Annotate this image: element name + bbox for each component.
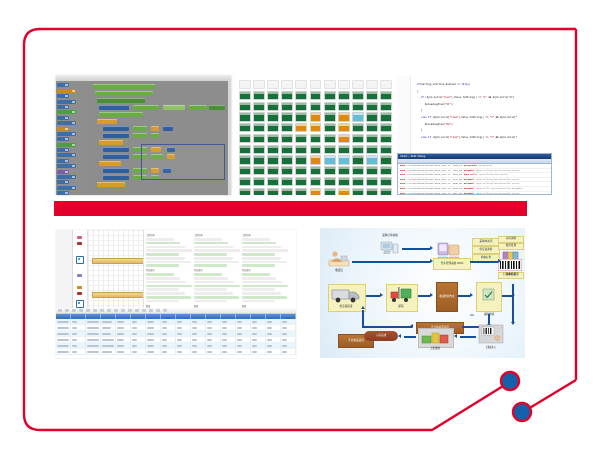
canvas-block-13[interactable] [163,126,173,131]
canvas-block-6[interactable] [189,105,207,110]
location-cell-8-4[interactable] [295,166,307,175]
location-cell-10-1[interactable] [253,188,265,195]
location-cell-10-0[interactable] [239,188,251,195]
code-token: ReloadLogItem( [425,103,445,106]
location-cell-7-2[interactable] [267,155,279,164]
table-tool-button-13[interactable] [149,309,153,312]
palette-block-13[interactable] [57,153,76,157]
table-tool-button-0[interactable] [58,309,62,312]
location-cell-6-6[interactable] [324,145,336,154]
cell-header [282,81,292,83]
location-cell-7-8[interactable] [352,155,364,164]
location-cell-3-5[interactable] [310,112,322,121]
location-cell-1-1[interactable] [253,91,265,100]
table-cell [191,343,206,348]
location-cell-3-8[interactable] [352,112,364,121]
location-cell-8-9[interactable] [366,166,378,175]
gantt-chip-4[interactable] [77,286,82,289]
gantt-detail-line [194,264,227,267]
canvas-block-0[interactable] [93,84,155,89]
cell-body [311,94,321,99]
cell-body [311,137,321,142]
canvas-block-10[interactable] [103,126,129,131]
panel-gantt-scheduler[interactable]: 工程名称工程名称工程名称作业编号作业编号作业编号数量数量数量状态状态状态 [56,230,296,358]
gantt-node-track[interactable] [73,230,88,308]
location-cell-3-4[interactable] [295,112,307,121]
location-cell-5-0[interactable] [239,134,251,143]
location-cell-8-0[interactable] [239,166,251,175]
log-row-6[interactable]: INFOsrc/Warehouse/WcsAPI/Form_Main.cs261… [398,192,551,195]
canvas-block-31[interactable] [103,175,129,180]
panel-blocks-editor[interactable] [56,76,231,195]
location-cell-0-2[interactable] [267,80,279,89]
table-cell [101,319,116,324]
gantt-detail-panel[interactable]: 工程名称工程名称工程名称作业编号作业编号作业编号数量数量数量状态状态状态 [143,230,296,314]
location-cell-6-0[interactable] [239,145,251,154]
location-grid-cells[interactable] [236,76,394,195]
gantt-chip-1[interactable] [77,242,82,245]
log-cell: dgrm.CellsCycleInfoToValue ToStat [476,192,519,195]
panel-location-grid[interactable] [236,76,394,195]
palette-block-9[interactable] [57,132,76,136]
table-cell [56,331,71,336]
gantt-chip-3[interactable] [77,274,82,277]
canvas-block-5[interactable] [163,105,185,110]
location-cell-0-5[interactable] [310,80,322,89]
canvas-block-1[interactable] [95,91,153,96]
location-cell-6-1[interactable] [253,145,265,154]
cell-header [296,189,306,191]
table-cell [146,349,161,354]
location-cell-7-6[interactable] [324,155,336,164]
location-cell-8-7[interactable] [338,166,350,175]
table-tool-button-3[interactable] [79,309,83,312]
cell-header [367,189,377,191]
location-cell-6-2[interactable] [267,145,279,154]
palette-block-7[interactable] [57,121,76,125]
canvas-block-15[interactable] [133,133,147,138]
code-line-1: { [413,89,549,96]
cell-body [296,191,306,195]
table-tool-button-8[interactable] [114,309,118,312]
canvas-block-26[interactable] [99,161,121,166]
gantt-detail-line [194,261,239,264]
cell-header [353,92,363,94]
table-tool-button-7[interactable] [107,309,111,312]
location-cell-4-4[interactable] [295,123,307,132]
code-area[interactable]: if(bartlog_starting.Enabled == false){if… [397,76,552,158]
location-cell-3-9[interactable] [366,112,378,121]
location-cell-5-1[interactable] [253,134,265,143]
location-cell-10-8[interactable] [352,188,364,195]
table-cell [86,319,101,324]
location-cell-5-6[interactable] [324,134,336,143]
output-log-panel[interactable]: Output — Build / Debug INFOsrc/Warehouse… [397,153,552,195]
table-tool-button-12[interactable] [142,309,146,312]
panel-code-editor[interactable]: if(bartlog_starting.Enabled == false){if… [397,76,552,195]
location-cell-7-1[interactable] [253,155,265,164]
code-lines[interactable]: if(bartlog_starting.Enabled == false){if… [413,82,549,141]
cell-body [268,94,278,99]
gantt-detail-line [242,288,275,291]
table-tool-button-6[interactable] [100,309,104,312]
location-cell-2-7[interactable] [338,102,350,111]
location-cell-7-3[interactable] [281,155,293,164]
location-cell-8-6[interactable] [324,166,336,175]
palette-block-2[interactable] [57,94,69,98]
gantt-node-2[interactable] [76,256,84,264]
canvas-block-16[interactable] [151,133,159,138]
location-cell-4-8[interactable] [352,123,364,132]
palette-block-8[interactable] [57,127,69,131]
location-cell-1-10[interactable] [380,91,392,100]
location-cell-8-8[interactable] [352,166,364,175]
gantt-detail-line [194,296,239,299]
location-cell-6-9[interactable] [366,145,378,154]
location-cell-8-3[interactable] [281,166,293,175]
canvas-block-17[interactable] [99,140,123,145]
cell-header [296,178,306,180]
location-cell-8-5[interactable] [310,166,322,175]
location-cell-8-1[interactable] [253,166,265,175]
cell-header [311,167,321,169]
table-cell [251,331,266,336]
location-cell-10-5[interactable] [310,188,322,195]
cell-body [381,115,391,120]
palette-block-14[interactable] [57,159,69,163]
table-cell [206,325,221,330]
location-cell-5-2[interactable] [267,134,279,143]
flow-node-receive-check[interactable]: 收货检验作业 [436,282,458,312]
log-cell: src/Warehouse/WcsAPI/Form_Main.cs [407,192,450,195]
palette-block-11[interactable] [57,143,76,147]
flow-node-wms[interactable]: 仓库管理系统 WMS [433,258,471,270]
log-cell: dgrm.CellsCycleInfoToValue.ToStat [476,169,519,173]
location-cell-7-0[interactable] [239,155,251,164]
location-cell-1-7[interactable] [338,91,350,100]
table-tool-button-1[interactable] [65,309,69,312]
canvas-block-22[interactable] [103,154,129,159]
cell-header [240,156,250,158]
code-token: { [417,90,418,93]
location-cell-6-8[interactable] [352,145,364,154]
cell-header [381,81,391,83]
canvas-block-7[interactable] [209,105,225,110]
gantt-chip-0[interactable] [77,236,82,239]
location-cell-6-4[interactable] [295,145,307,154]
table-tool-button-14[interactable] [156,309,160,312]
location-cell-6-3[interactable] [281,145,293,154]
location-cell-9-6[interactable] [324,177,336,186]
location-cell-1-8[interactable] [352,91,364,100]
code-line-4: } [413,108,549,115]
location-cell-7-9[interactable] [366,155,378,164]
location-cell-6-5[interactable] [310,145,322,154]
palette-block-0[interactable] [57,83,69,87]
table-tool-button-11[interactable] [135,309,139,312]
table-tool-button-2[interactable] [72,309,76,312]
cell-body [268,137,278,142]
table-tool-button-4[interactable] [86,309,90,312]
location-cell-7-7[interactable] [338,155,350,164]
location-cell-0-7[interactable] [338,80,350,89]
gantt-detail-line [146,288,179,291]
location-cell-1-0[interactable] [239,91,251,100]
cell-header [339,92,349,94]
palette-block-20[interactable] [57,191,69,195]
palette-block-12[interactable] [57,148,69,152]
code-token: "item" [443,96,452,99]
location-cell-0-4[interactable] [295,80,307,89]
gantt-detail-line [242,281,282,284]
code-token: ); [451,103,454,106]
flow-label-ng-return: 不合格品退货 [348,340,364,343]
location-cell-9-3[interactable] [281,177,293,186]
flow-label-receive: 收货检验作业 [439,296,455,299]
table-cell [251,319,266,324]
gantt-data-table[interactable] [56,308,296,358]
location-cell-4-5[interactable] [310,123,322,132]
canvas-block-4[interactable] [133,105,159,110]
location-cell-0-0[interactable] [239,80,251,89]
cell-header [268,178,278,180]
gantt-detail-line [194,300,227,303]
output-log-rows[interactable]: INFOsrc/Warehouse/WcsAPI/Form_Main.cs225… [398,164,551,195]
table-cell [176,349,191,354]
gantt-chip-5[interactable] [77,292,82,295]
panel-process-flow[interactable]: 收货员 采购订单系统 仓库管理系统 WMS 采购单资讯 [320,228,525,358]
location-cell-7-10[interactable] [380,155,392,164]
location-cell-5-4[interactable] [295,134,307,143]
location-cell-4-2[interactable] [267,123,279,132]
location-cell-3-1[interactable] [253,112,265,121]
location-cell-2-4[interactable] [295,102,307,111]
gantt-detail-header: 工程名称 [146,233,192,237]
cell-header [268,146,278,148]
location-cell-0-10[interactable] [380,80,392,89]
location-cell-4-0[interactable] [239,123,251,132]
table-tool-button-10[interactable] [128,309,132,312]
table-cell [266,331,281,336]
log-cell: src/Warehouse/WcsAPI/Form_Main.cs [407,182,450,186]
location-cell-1-6[interactable] [324,91,336,100]
log-cell: dgrm.Cells [464,173,477,177]
location-row [239,91,392,100]
location-cell-7-4[interactable] [295,155,307,164]
location-cell-9-4[interactable] [295,177,307,186]
canvas-block-11[interactable] [133,126,147,131]
cell-body [282,191,292,195]
cell-body [282,105,292,110]
cell-body [381,169,391,174]
location-cell-8-10[interactable] [380,166,392,175]
log-cell: GCSymbol [464,169,475,173]
canvas-block-8[interactable] [99,112,143,117]
gantt-detail-line [242,264,275,267]
location-cell-2-10[interactable] [380,102,392,111]
location-cell-9-9[interactable] [366,177,378,186]
location-cell-10-4[interactable] [295,188,307,195]
log-cell: INFO [400,178,405,182]
flow-node-stock-in-done[interactable]: 入库完成 [364,331,398,341]
location-cell-0-8[interactable] [352,80,364,89]
palette-block-19[interactable] [57,186,76,190]
location-cell-2-0[interactable] [239,102,251,111]
flow-label-scan: 扫描录入 [474,345,508,349]
location-cell-2-6[interactable] [324,102,336,111]
location-cell-9-10[interactable] [380,177,392,186]
location-cell-1-4[interactable] [295,91,307,100]
table-tool-button-5[interactable] [93,309,97,312]
canvas-block-12[interactable] [151,126,159,131]
location-cell-0-3[interactable] [281,80,293,89]
location-cell-4-6[interactable] [324,123,336,132]
gantt-detail-line [146,273,174,276]
location-cell-5-10[interactable] [380,134,392,143]
palette-block-4[interactable] [57,105,69,109]
gantt-detail-line [242,242,276,245]
location-cell-5-9[interactable] [366,134,378,143]
location-cell-7-5[interactable] [310,155,322,164]
location-cell-2-1[interactable] [253,102,265,111]
canvas-block-2[interactable] [97,98,145,103]
location-cell-1-2[interactable] [267,91,279,100]
palette-block-5[interactable] [57,110,76,114]
location-cell-1-3[interactable] [281,91,293,100]
location-cell-10-2[interactable] [267,188,279,195]
location-cell-9-8[interactable] [352,177,364,186]
location-cell-6-7[interactable] [338,145,350,154]
location-cell-10-7[interactable] [338,188,350,195]
gantt-detail-line [242,246,282,249]
table-tool-button-15[interactable] [163,309,167,312]
location-cell-4-3[interactable] [281,123,293,132]
cell-header [254,81,264,83]
location-cell-1-5[interactable] [310,91,322,100]
canvas-block-14[interactable] [103,133,129,138]
location-cell-3-0[interactable] [239,112,251,121]
blocks-palette[interactable] [56,81,83,195]
log-cell: GCSyncInfo [464,164,477,168]
gantt-detail-header: 工程名称 [242,233,288,237]
gantt-resource-column[interactable] [56,230,73,308]
table-cell [116,349,131,354]
location-cell-0-6[interactable] [324,80,336,89]
cell-header [353,146,363,148]
location-cell-2-8[interactable] [352,102,364,111]
location-cell-10-3[interactable] [281,188,293,195]
location-cell-9-1[interactable] [253,177,265,186]
location-cell-10-10[interactable] [380,188,392,195]
location-row [239,80,392,89]
cell-header [367,113,377,115]
location-cell-3-2[interactable] [267,112,279,121]
location-cell-0-1[interactable] [253,80,265,89]
cell-header [282,113,292,115]
location-cell-9-0[interactable] [239,177,251,186]
palette-block-1[interactable] [57,89,76,93]
accent-dot-lower [513,403,531,421]
location-cell-5-3[interactable] [281,134,293,143]
palette-block-10[interactable] [57,137,69,141]
table-body[interactable] [56,319,296,355]
cell-body [268,158,278,163]
location-cell-4-7[interactable] [338,123,350,132]
flow-note-label-1: 采购单资讯 [480,241,493,244]
log-cell: GCSymbol [464,187,475,191]
cell-header [325,135,335,137]
location-cell-5-8[interactable] [352,134,364,143]
location-cell-3-6[interactable] [324,112,336,121]
canvas-block-9[interactable] [97,119,117,124]
location-cell-4-9[interactable] [366,123,378,132]
canvas-block-27[interactable] [103,168,129,173]
cell-header [367,135,377,137]
location-cell-3-3[interactable] [281,112,293,121]
location-cell-0-9[interactable] [366,80,378,89]
gantt-detail-line [242,285,288,288]
location-cell-2-2[interactable] [267,102,279,111]
cell-header [282,135,292,137]
location-cell-5-5[interactable] [310,134,322,143]
canvas-block-34[interactable] [97,182,125,187]
location-cell-5-7[interactable] [338,134,350,143]
canvas-block-18[interactable] [103,147,129,152]
palette-block-17[interactable] [57,175,76,179]
flow-note-top-1: 采购单资讯 [472,238,500,246]
palette-block-6[interactable] [57,116,69,120]
palette-block-3[interactable] [57,100,76,104]
location-cell-2-3[interactable] [281,102,293,111]
palette-block-18[interactable] [57,180,69,184]
cell-body [353,180,363,185]
table-cell [221,337,236,342]
location-cell-3-10[interactable] [380,112,392,121]
blocks-scrollbar[interactable] [228,81,231,195]
gantt-node-6[interactable] [76,300,84,308]
table-cell [86,325,101,330]
flow-label-operator: 收货员 [324,268,354,272]
table-cell [266,337,281,342]
cell-body [339,191,349,195]
gantt-detail-line [194,285,240,288]
cell-header [240,135,250,137]
location-cell-9-2[interactable] [267,177,279,186]
location-cell-9-5[interactable] [310,177,322,186]
location-cell-9-7[interactable] [338,177,350,186]
location-cell-2-9[interactable] [366,102,378,111]
log-cell: dgrm.CellsCycleInfoToValue ToStat [476,182,519,186]
location-cell-3-7[interactable] [338,112,350,121]
canvas-block-3[interactable] [99,105,129,110]
location-cell-2-5[interactable] [310,102,322,111]
location-cell-8-2[interactable] [267,166,279,175]
blocks-canvas[interactable] [83,81,231,195]
cell-header [325,113,335,115]
location-cell-1-9[interactable] [366,91,378,100]
code-token: ) [469,83,470,86]
palette-block-15[interactable] [57,164,76,168]
location-cell-10-6[interactable] [324,188,336,195]
location-cell-6-10[interactable] [380,145,392,154]
table-row[interactable] [56,349,296,355]
log-cell: src/Warehouse/WcsAPI/Form_Main.cs [407,164,450,168]
location-cell-4-10[interactable] [380,123,392,132]
location-cell-4-1[interactable] [253,123,265,132]
table-tool-button-9[interactable] [121,309,125,312]
location-cell-10-9[interactable] [366,188,378,195]
palette-block-16[interactable] [57,170,69,174]
